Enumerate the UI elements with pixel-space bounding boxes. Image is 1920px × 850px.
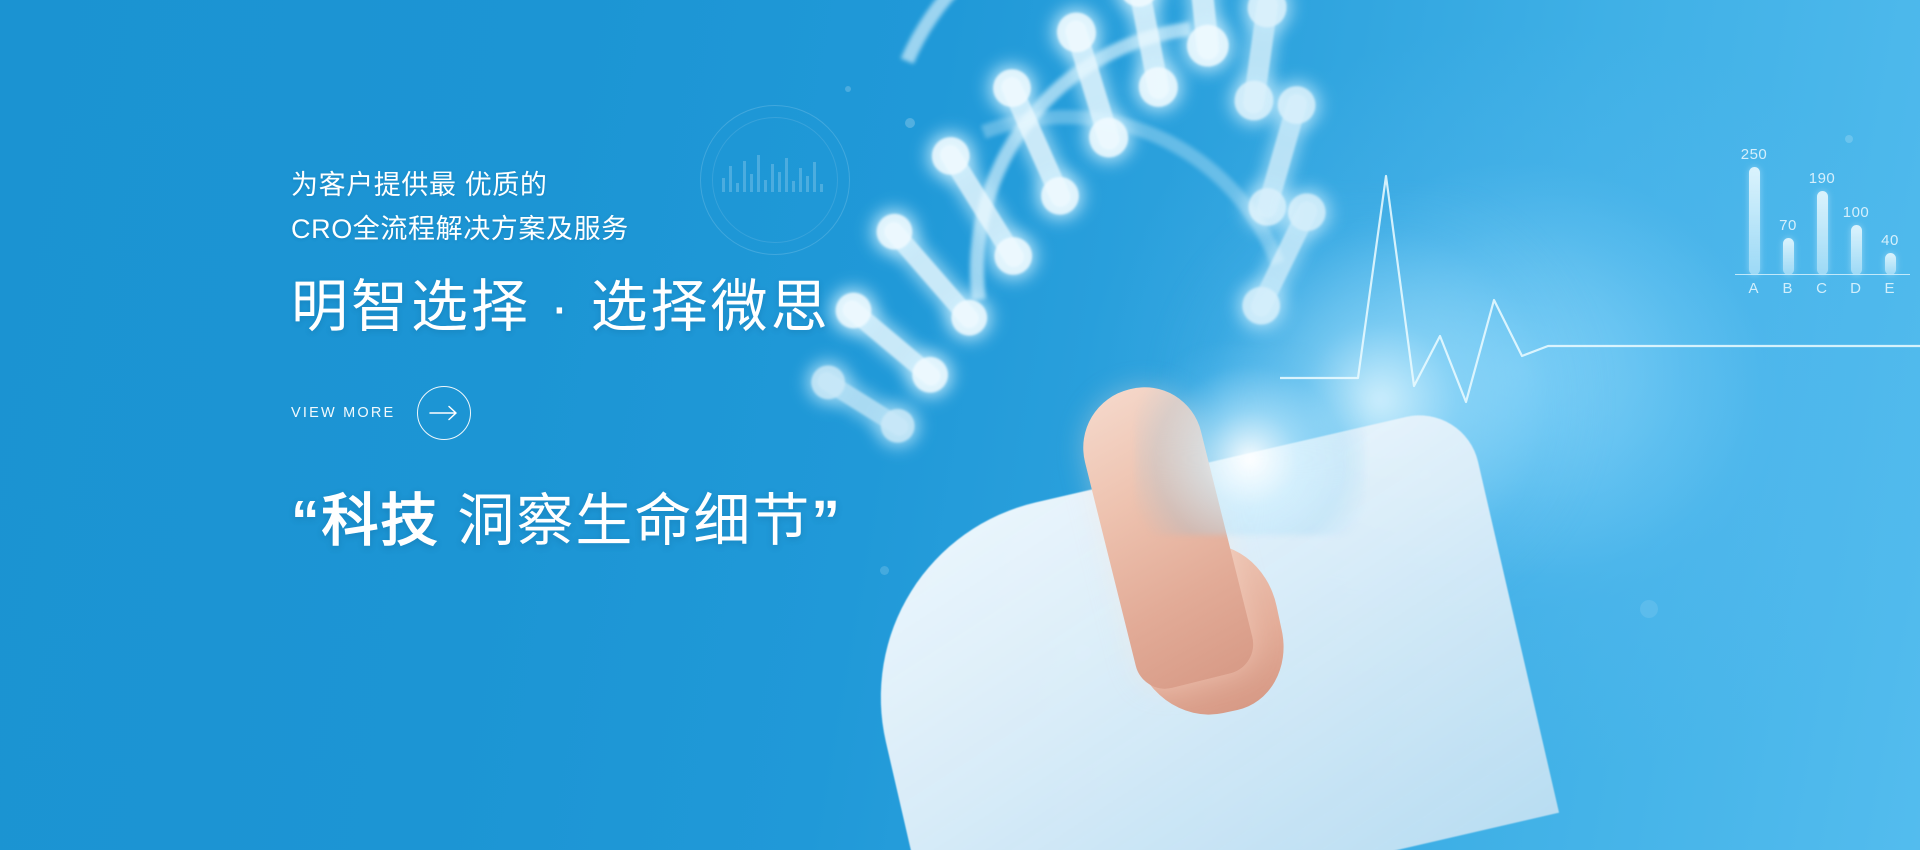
bokeh-dot <box>1845 135 1853 143</box>
chart-category-label: A <box>1748 280 1759 297</box>
chart-bar <box>1851 225 1862 275</box>
chart-bar <box>1783 238 1794 275</box>
quote-strong-text: 科技 <box>322 489 440 553</box>
chart-value-label: 250 <box>1741 146 1768 163</box>
hero-headline: 明智选择 · 选择微思 <box>291 274 1051 341</box>
chart-value-label: 190 <box>1809 170 1836 187</box>
chart-value-label: 40 <box>1881 232 1899 249</box>
arrow-right-icon[interactable] <box>417 386 471 440</box>
hero-copy-block: 为客户提供最 优质的 CRO全流程解决方案及服务 明智选择 · 选择微思 VIE… <box>291 0 1051 555</box>
quote-light-text: 洞察生命细节 <box>440 489 812 553</box>
chart-category-label: E <box>1884 280 1895 297</box>
chart-bar <box>1817 191 1828 275</box>
chart-category-axis: A B C D E <box>1735 280 1910 306</box>
hero-quote: “科技 洞察生命细节” <box>291 487 1051 555</box>
chart-category-label: B <box>1782 280 1793 297</box>
chart-bar <box>1749 167 1760 275</box>
bokeh-dot <box>880 566 889 575</box>
hero-subtitle: 为客户提供最 优质的 CRO全流程解决方案及服务 <box>291 164 1051 251</box>
chart-bar <box>1885 253 1896 275</box>
hero-subtitle-line-1: 为客户提供最 优质的 <box>291 164 1051 208</box>
hero-banner: 250 70 190 100 40 A B C D E 为客户提供最 优质的 C… <box>0 0 1920 850</box>
chart-value-label: 100 <box>1843 204 1870 221</box>
chart-category-label: C <box>1816 280 1828 297</box>
quote-close-mark: ” <box>811 489 842 553</box>
chart-category-label: D <box>1850 280 1862 297</box>
chart-plot-area: 250 70 190 100 40 <box>1735 155 1910 275</box>
view-more-label: VIEW MORE <box>291 405 395 421</box>
hero-subtitle-line-2: CRO全流程解决方案及服务 <box>291 208 1051 252</box>
mini-bar-chart: 250 70 190 100 40 A B C D E <box>1735 155 1910 320</box>
chart-value-label: 70 <box>1779 217 1797 234</box>
view-more-button[interactable]: VIEW MORE <box>291 386 471 440</box>
quote-open-mark: “ <box>291 489 322 553</box>
bokeh-dot <box>1640 600 1658 618</box>
